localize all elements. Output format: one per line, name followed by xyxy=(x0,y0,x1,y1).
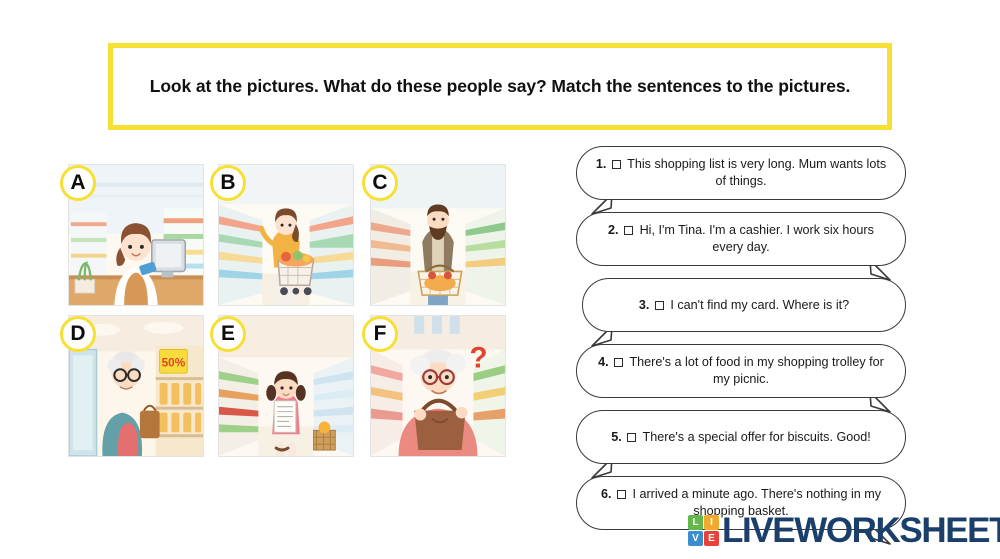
sentence-number: 3. xyxy=(639,298,650,312)
picture-badge-d: D xyxy=(60,316,96,352)
answer-checkbox[interactable] xyxy=(624,226,633,235)
picture-badge-e: E xyxy=(210,316,246,352)
sentence-text: There's a special offer for biscuits. Go… xyxy=(643,430,871,444)
sentence-text: I can't find my card. Where is it? xyxy=(670,298,849,312)
sentence-number: 2. xyxy=(608,223,619,237)
sentence-bubble-4[interactable]: 4. There's a lot of food in my shopping … xyxy=(576,344,906,398)
picture-badge-a: A xyxy=(60,165,96,201)
answer-checkbox[interactable] xyxy=(655,301,664,310)
bubble-text: 4. There's a lot of food in my shopping … xyxy=(595,354,887,387)
answer-checkbox[interactable] xyxy=(627,433,636,442)
bubble-text: 1. This shopping list is very long. Mum … xyxy=(595,156,887,189)
sentence-text: There's a lot of food in my shopping tro… xyxy=(629,355,883,386)
liveworksheets-logo-icon: L I V E xyxy=(688,515,719,546)
sentence-number: 1. xyxy=(596,157,607,171)
bubble-body[interactable]: 3. I can't find my card. Where is it? xyxy=(582,278,906,332)
sentence-bubble-list: 1. This shopping list is very long. Mum … xyxy=(576,146,916,542)
sentence-number: 5. xyxy=(611,430,622,444)
logo-tile-v: V xyxy=(688,531,703,546)
sentence-bubble-1[interactable]: 1. This shopping list is very long. Mum … xyxy=(576,146,906,200)
picture-badge-letter: C xyxy=(372,171,387,195)
logo-tile-i: I xyxy=(704,515,719,530)
bubble-body[interactable]: 2. Hi, I'm Tina. I'm a cashier. I work s… xyxy=(576,212,906,266)
picture-badge-letter: F xyxy=(374,322,387,346)
bubble-body[interactable]: 1. This shopping list is very long. Mum … xyxy=(576,146,906,200)
bubble-text: 3. I can't find my card. Where is it? xyxy=(639,297,849,314)
sentence-text: This shopping list is very long. Mum wan… xyxy=(627,157,886,188)
bubble-body[interactable]: 4. There's a lot of food in my shopping … xyxy=(576,344,906,398)
worksheet-page: Look at the pictures. What do these peop… xyxy=(0,0,1000,559)
bubble-body[interactable]: 5. There's a special offer for biscuits.… xyxy=(576,410,906,464)
picture-badge-letter: E xyxy=(221,322,235,346)
answer-checkbox[interactable] xyxy=(614,358,623,367)
picture-badge-letter: B xyxy=(220,171,235,195)
picture-badge-letter: D xyxy=(70,322,85,346)
sentence-text: Hi, I'm Tina. I'm a cashier. I work six … xyxy=(640,223,874,254)
liveworksheets-watermark: L I V E LIVEWORKSHEETS xyxy=(688,513,1000,548)
watermark-wordmark: LIVEWORKSHEETS xyxy=(722,513,1000,548)
sentence-bubble-5[interactable]: 5. There's a special offer for biscuits.… xyxy=(576,410,906,464)
logo-tile-l: L xyxy=(688,515,703,530)
sentence-number: 4. xyxy=(598,355,609,369)
picture-badge-letter: A xyxy=(70,171,85,195)
instruction-banner: Look at the pictures. What do these peop… xyxy=(108,43,892,130)
picture-badge-b: B xyxy=(210,165,246,201)
picture-grid: A xyxy=(60,160,540,470)
question-mark-label: ? xyxy=(470,341,488,374)
answer-checkbox[interactable] xyxy=(612,160,621,169)
picture-badge-f: F xyxy=(362,316,398,352)
sentence-bubble-2[interactable]: 2. Hi, I'm Tina. I'm a cashier. I work s… xyxy=(576,212,906,266)
logo-tile-e: E xyxy=(704,531,719,546)
picture-badge-c: C xyxy=(362,165,398,201)
instruction-text: Look at the pictures. What do these peop… xyxy=(150,76,851,97)
sentence-number: 6. xyxy=(601,487,612,501)
bubble-text: 2. Hi, I'm Tina. I'm a cashier. I work s… xyxy=(595,222,887,255)
offer-sign-label: 50% xyxy=(162,355,186,369)
sentence-bubble-3[interactable]: 3. I can't find my card. Where is it? xyxy=(576,278,906,332)
answer-checkbox[interactable] xyxy=(617,490,626,499)
bubble-text: 5. There's a special offer for biscuits.… xyxy=(611,429,871,446)
